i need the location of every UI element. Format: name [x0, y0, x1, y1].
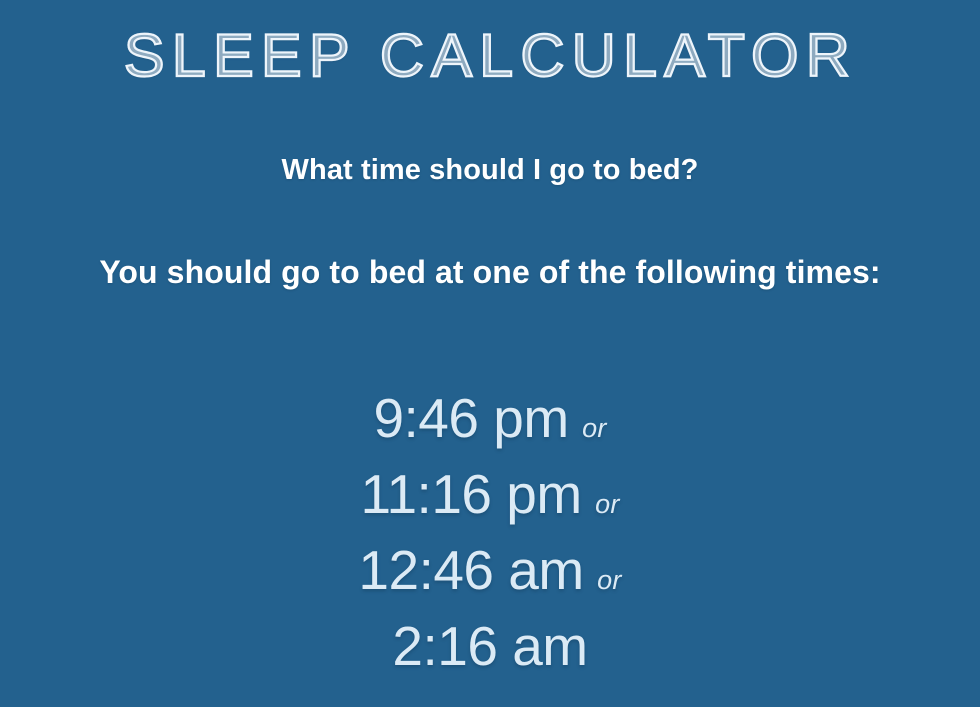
bedtime-result-row: 9:46 pm or: [0, 380, 980, 456]
page-title: SLEEP CALCULATOR: [123, 24, 856, 88]
bedtime-value: 11:16 pm: [360, 463, 581, 525]
bedtime-result-row: 12:46 am or: [0, 532, 980, 608]
question-heading: What time should I go to bed?: [0, 152, 980, 188]
bedtime-conjunction: or: [582, 413, 606, 443]
sleep-calculator-page: SLEEP CALCULATOR What time should I go t…: [0, 0, 980, 707]
bedtime-value: 2:16 am: [392, 615, 587, 677]
bedtime-conjunction: or: [595, 489, 619, 519]
lead-in-text: You should go to bed at one of the follo…: [0, 252, 980, 292]
bedtime-result-row: 11:16 pm or: [0, 456, 980, 532]
bedtime-results-list: 9:46 pm or 11:16 pm or 12:46 am or 2:16 …: [0, 380, 980, 684]
page-title-container: SLEEP CALCULATOR: [0, 24, 980, 88]
bedtime-value: 12:46 am: [358, 539, 583, 601]
bedtime-value: 9:46 pm: [373, 387, 568, 449]
bedtime-result-row: 2:16 am: [0, 608, 980, 684]
bedtime-conjunction: or: [597, 565, 621, 595]
